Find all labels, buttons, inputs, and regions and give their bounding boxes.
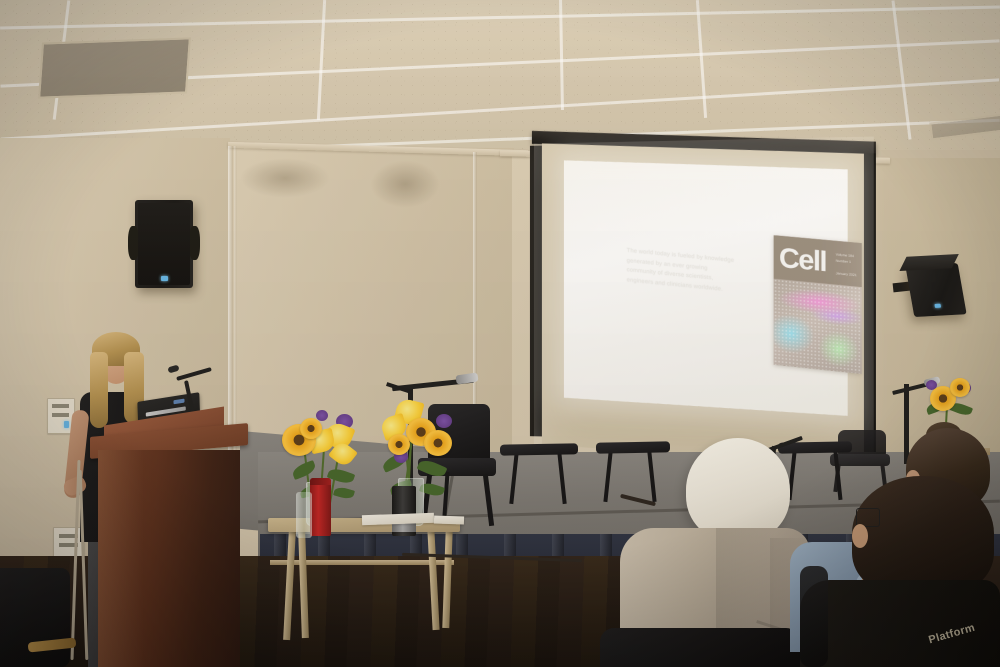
wall-shading — [240, 158, 330, 198]
screen-frame-right — [863, 153, 876, 465]
wall-shading — [370, 160, 440, 208]
black-travel-mug — [392, 486, 416, 536]
projected-slide: The world today is fueled by knowledge g… — [564, 160, 848, 416]
wall-speaker-left — [135, 200, 193, 288]
conference-presentation-photo: The world today is fueled by knowledge g… — [0, 0, 1000, 667]
podium — [90, 430, 248, 667]
torso: Platform — [800, 580, 1000, 667]
cell-logo: Cell — [779, 244, 826, 276]
audience-chair — [0, 568, 70, 667]
audience-chair — [800, 566, 828, 667]
slide-body-text: The world today is fueled by knowledge g… — [627, 247, 739, 297]
projection-screen: The world today is fueled by knowledge g… — [520, 124, 874, 472]
wall-speaker-right — [905, 263, 966, 317]
journal-cover-image: Cell Volume 184Number 1 January 2021 cel… — [774, 235, 862, 374]
audience-chair — [600, 628, 800, 667]
presenter-hair — [90, 352, 108, 428]
head — [852, 476, 994, 596]
ear — [852, 524, 868, 548]
water-bottle — [296, 492, 312, 538]
chair-seat — [500, 443, 578, 455]
papers-on-table — [434, 515, 464, 524]
cover-microscopy-art — [774, 279, 862, 374]
podium-highlight — [98, 450, 144, 667]
ceiling-air-vent — [38, 37, 191, 98]
head — [686, 438, 790, 542]
shirt-logo-text: Platform — [927, 622, 976, 647]
red-thermos — [310, 478, 331, 536]
chair-seat — [596, 441, 670, 453]
